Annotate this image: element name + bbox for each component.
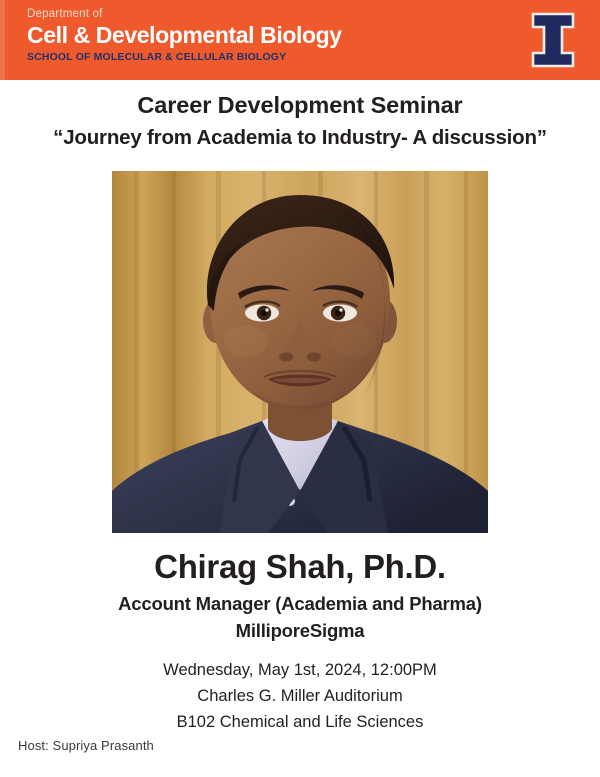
school-name: SCHOOL OF MOLECULAR & CELLULAR BIOLOGY xyxy=(27,51,342,64)
event-logistics: Wednesday, May 1st, 2024, 12:00PM Charle… xyxy=(0,657,600,735)
event-datetime: Wednesday, May 1st, 2024, 12:00PM xyxy=(0,657,600,683)
header-left-edge-stripe xyxy=(0,0,5,80)
event-venue: Charles G. Miller Auditorium xyxy=(0,683,600,709)
speaker-photo xyxy=(112,171,488,533)
department-kicker: Department of xyxy=(27,7,342,21)
poster-header: Department of Cell & Developmental Biolo… xyxy=(0,0,600,80)
seminar-title: Career Development Seminar xyxy=(0,92,600,119)
speaker-organization: MilliporeSigma xyxy=(0,620,600,642)
speaker-name: Chirag Shah, Ph.D. xyxy=(0,548,600,586)
speaker-role: Account Manager (Academia and Pharma) xyxy=(0,593,600,615)
seminar-poster: Department of Cell & Developmental Biolo… xyxy=(0,0,600,777)
header-wordmark: Department of Cell & Developmental Biolo… xyxy=(27,7,342,64)
event-building: B102 Chemical and Life Sciences xyxy=(0,709,600,735)
department-name: Cell & Developmental Biology xyxy=(27,22,342,49)
seminar-subtitle: “Journey from Academia to Industry- A di… xyxy=(0,126,600,150)
block-i-logo xyxy=(530,12,576,68)
host-line: Host: Supriya Prasanth xyxy=(18,738,154,753)
